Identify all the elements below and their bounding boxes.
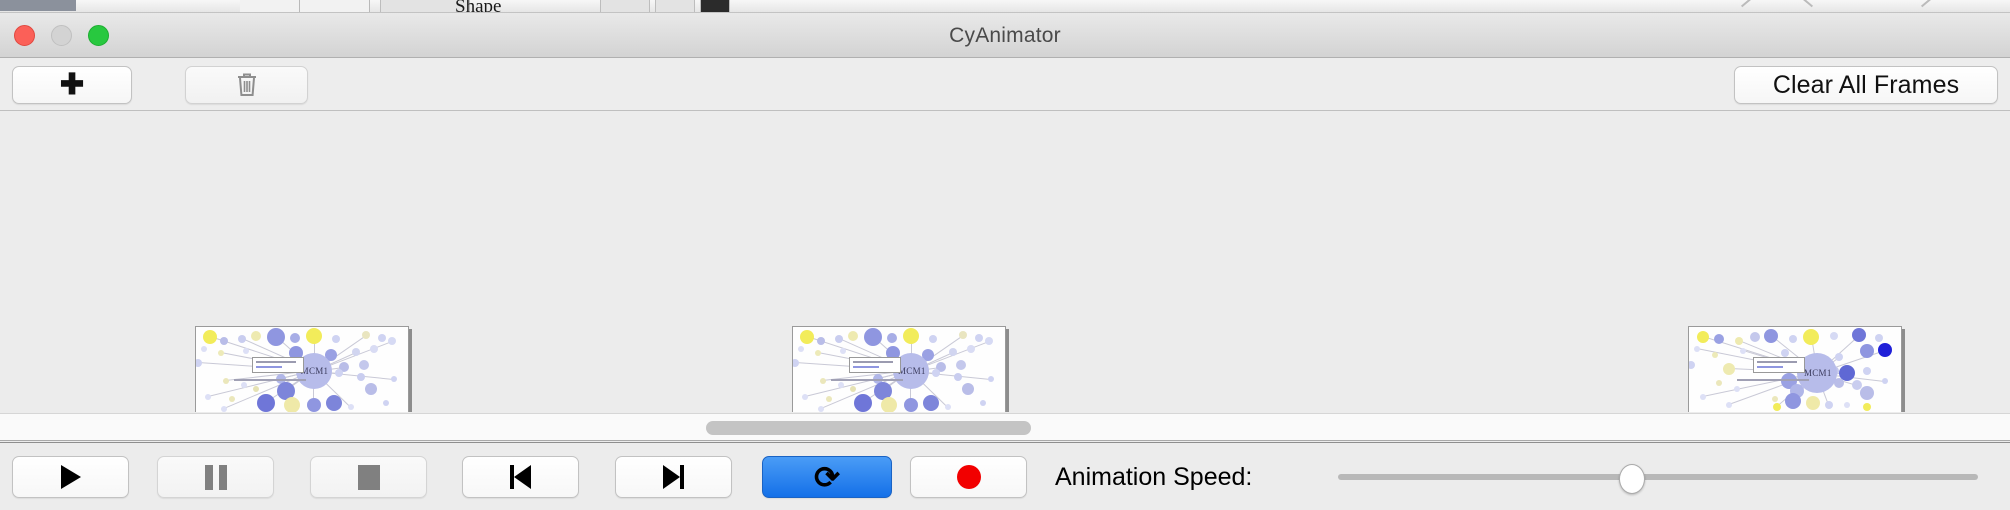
network-node [1860, 386, 1874, 400]
network-node [1764, 329, 1778, 343]
network-node [357, 373, 365, 381]
record-button[interactable] [910, 456, 1027, 498]
network-node [1688, 361, 1695, 369]
network-node [220, 337, 228, 345]
network-node [792, 359, 799, 367]
keyframe-network-image: MCM1 [196, 327, 408, 412]
network-node [967, 345, 975, 353]
network-node [864, 328, 882, 346]
skip-to-end-icon [663, 465, 684, 489]
network-node [932, 369, 940, 377]
network-node [348, 404, 354, 410]
network-node [1863, 367, 1871, 375]
network-node [954, 373, 962, 381]
network-node [251, 331, 261, 341]
clear-all-frames-label: Clear All Frames [1773, 71, 1959, 100]
loop-icon: ⟳ [814, 462, 840, 493]
network-node [798, 346, 804, 352]
network-node [391, 376, 397, 382]
network-node [365, 383, 377, 395]
background-decoration [1921, 0, 1933, 7]
background-window-strip: Shape [0, 0, 2010, 13]
network-node [1773, 403, 1781, 411]
network-annotation-text [853, 366, 879, 368]
network-node [1789, 335, 1797, 343]
network-node [1878, 343, 1892, 357]
title-bar: CyAnimator [0, 13, 2010, 58]
network-annotation-text [853, 361, 893, 363]
network-node [959, 331, 967, 339]
play-button[interactable] [12, 456, 129, 498]
network-node [988, 376, 994, 382]
network-node [1844, 402, 1850, 408]
background-window-label: Shape [455, 0, 501, 13]
network-node [1803, 329, 1819, 345]
network-node [802, 394, 808, 400]
network-node [1863, 403, 1871, 411]
network-node [949, 348, 957, 356]
network-node [378, 334, 386, 342]
network-node [1716, 380, 1722, 386]
network-node [326, 395, 342, 411]
network-node [1875, 334, 1883, 342]
network-node [985, 337, 993, 345]
add-frame-button[interactable]: ✚ [12, 66, 132, 104]
network-hub-label: MCM1 [898, 366, 926, 376]
network-node [975, 334, 983, 342]
network-node [284, 397, 300, 412]
network-node [359, 360, 369, 370]
network-node [1825, 401, 1833, 409]
network-node [956, 360, 966, 370]
network-node [1714, 334, 1724, 344]
network-node [201, 346, 207, 352]
network-annotation-box [1753, 357, 1805, 373]
background-tab [700, 0, 730, 12]
network-annotation-box [849, 357, 901, 373]
delete-frame-button[interactable] [185, 66, 308, 104]
network-node [290, 333, 300, 343]
skip-to-end-button[interactable] [615, 456, 732, 498]
network-annotation-text [256, 361, 296, 363]
network-node [1735, 337, 1743, 345]
network-node [352, 348, 360, 356]
network-node [1772, 396, 1778, 402]
network-hub-label: MCM1 [1804, 368, 1832, 378]
keyframe-network-image: MCM1 [1689, 327, 1901, 412]
network-node [945, 404, 951, 410]
network-node [241, 382, 247, 388]
network-node [980, 400, 986, 406]
network-node [1712, 352, 1718, 358]
network-node [840, 348, 846, 354]
window-title: CyAnimator [0, 13, 2010, 58]
pause-button[interactable] [157, 456, 274, 498]
keyframe-thumbnail[interactable]: MCM1 [195, 326, 409, 412]
network-node [848, 331, 858, 341]
trash-icon [236, 72, 258, 98]
keyframe-network-image: MCM1 [793, 327, 1005, 412]
network-node [267, 328, 285, 346]
network-node [815, 350, 821, 356]
network-annotation-text [1757, 366, 1783, 368]
network-node [826, 396, 832, 402]
network-node [195, 359, 202, 367]
network-node [850, 386, 856, 392]
network-node [335, 369, 343, 377]
network-node [1835, 353, 1843, 361]
background-window-dark-block [0, 0, 76, 11]
cyanimator-window: Shape CyAnimator ✚ Clear All Frames MCM1 [0, 0, 2010, 510]
network-node [253, 386, 259, 392]
network-annotation-text [1757, 361, 1797, 363]
network-node [818, 406, 824, 412]
network-node [838, 382, 844, 388]
network-node [221, 406, 227, 412]
slider-thumb[interactable] [1619, 464, 1645, 494]
network-node [306, 328, 322, 344]
network-node [1882, 378, 1888, 384]
network-node [820, 378, 826, 384]
skip-to-start-button[interactable] [462, 456, 579, 498]
background-tab [655, 0, 695, 12]
keyframe-thumbnail[interactable]: MCM1 [792, 326, 1006, 412]
stop-icon [358, 465, 380, 490]
skip-to-start-icon [510, 465, 531, 489]
network-node [854, 394, 872, 412]
network-node [218, 350, 224, 356]
network-node [1785, 393, 1801, 409]
network-node [307, 398, 321, 412]
timeline-panel[interactable]: MCM1MCM1MCM1 12131415161718 Seconds [0, 112, 2010, 412]
slider-track [1338, 474, 1978, 480]
network-hub-label: MCM1 [301, 366, 329, 376]
network-caption-text [234, 379, 306, 381]
background-toolbar-segment [240, 0, 300, 12]
network-node [223, 378, 229, 384]
network-node [1852, 328, 1866, 342]
network-node [887, 333, 897, 343]
keyframe-thumbnail[interactable]: MCM1 [1688, 326, 1902, 412]
animation-speed-label: Animation Speed: [1055, 456, 1252, 498]
pause-icon [205, 465, 227, 490]
network-node [383, 400, 389, 406]
playback-control-bar: ⟳ Animation Speed: [0, 442, 2010, 510]
background-tab [600, 0, 650, 12]
network-node [1806, 396, 1820, 410]
background-decoration [1801, 0, 1813, 7]
stop-button[interactable] [310, 456, 427, 498]
toolbar: ✚ Clear All Frames [0, 58, 2010, 111]
network-caption-text [831, 379, 903, 381]
network-caption-text [1737, 379, 1809, 381]
network-node [1700, 394, 1706, 400]
record-icon [957, 465, 981, 489]
clear-all-frames-button[interactable]: Clear All Frames [1734, 66, 1998, 104]
network-node [1726, 402, 1732, 408]
network-node [923, 395, 939, 411]
network-node [229, 396, 235, 402]
animation-speed-slider[interactable] [1338, 456, 1978, 498]
network-annotation-box [252, 357, 304, 373]
network-node [1750, 332, 1760, 342]
background-toolbar-segment [300, 0, 370, 12]
network-node [1734, 386, 1740, 392]
network-node [800, 330, 814, 344]
network-node [904, 398, 918, 412]
network-node [881, 397, 897, 412]
timeline-scrollbar[interactable] [0, 413, 2010, 441]
network-node [1740, 348, 1746, 354]
network-node [388, 337, 396, 345]
network-node [1723, 363, 1735, 375]
loop-button[interactable]: ⟳ [762, 456, 892, 498]
network-node [243, 348, 249, 354]
network-annotation-text [256, 366, 282, 368]
background-decoration [1741, 0, 1753, 7]
network-node [903, 328, 919, 344]
network-node [1830, 332, 1838, 340]
network-node [1781, 349, 1789, 357]
plus-icon: ✚ [60, 71, 84, 100]
network-node [817, 337, 825, 345]
network-node [1697, 331, 1709, 343]
network-node [370, 345, 378, 353]
network-node [835, 335, 843, 343]
network-node [929, 335, 937, 343]
scrollbar-thumb[interactable] [706, 421, 1032, 435]
network-node [238, 335, 246, 343]
network-node [203, 330, 217, 344]
network-node [962, 383, 974, 395]
network-node [257, 394, 275, 412]
network-node [1694, 346, 1700, 352]
play-icon [61, 465, 81, 489]
network-node [1860, 344, 1874, 358]
network-node [205, 394, 211, 400]
network-node [332, 335, 340, 343]
network-node [362, 331, 370, 339]
